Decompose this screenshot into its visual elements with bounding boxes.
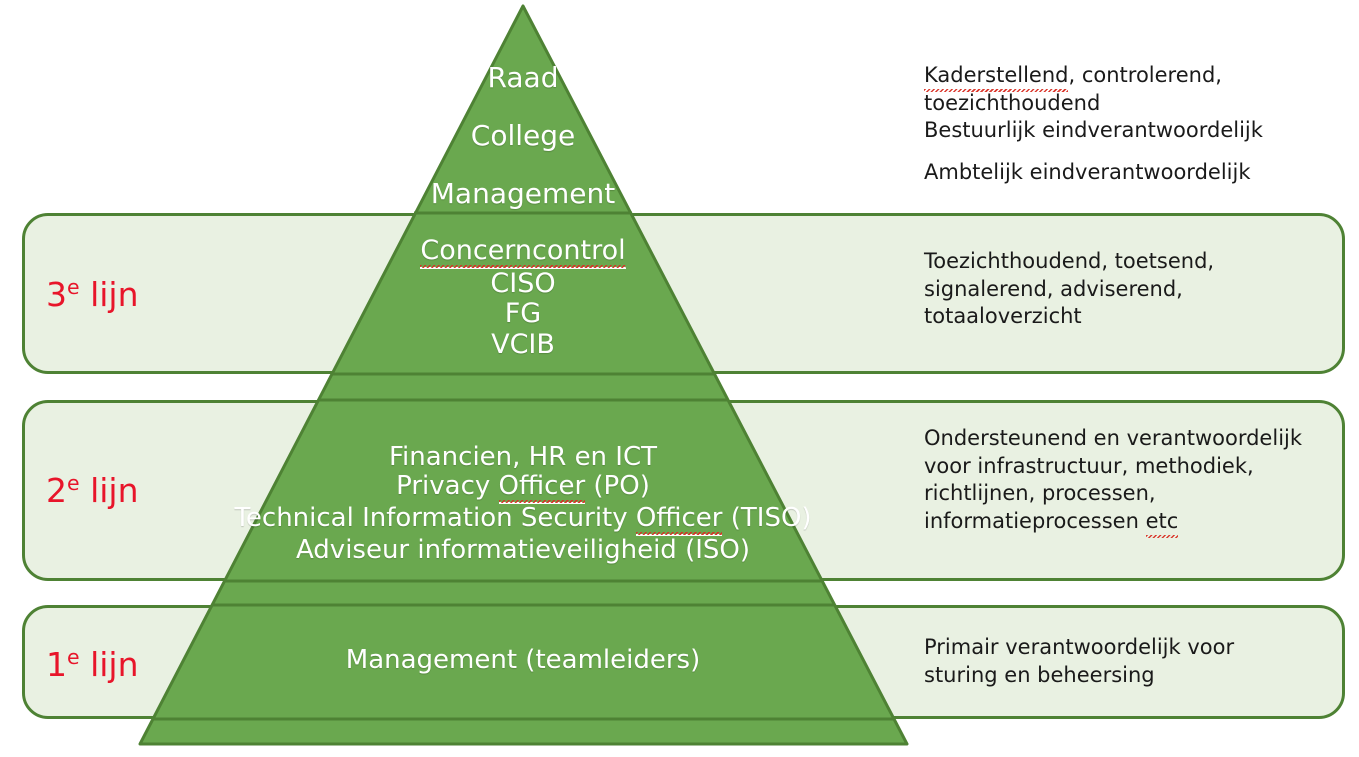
pyramid-label-tiso-suffix: (TISO) xyxy=(722,503,811,533)
pyramid-label-privacy-officer-word: Officer xyxy=(499,472,586,504)
description-second-line2: voor infrastructuur, methodiek, xyxy=(924,453,1302,481)
description-first-line: Primair verantwoordelijk voor sturing en… xyxy=(924,634,1234,689)
pyramid-label-privacy-suffix: (PO) xyxy=(585,471,650,501)
description-first-line1: Primair verantwoordelijk voor xyxy=(924,634,1234,662)
description-third-line2: signalerend, adviserend, xyxy=(924,276,1214,304)
pyramid-tier-college: College xyxy=(0,120,1046,151)
description-second-line4-prefix: informatieprocessen xyxy=(924,509,1146,533)
pyramid-label-privacy-prefix: Privacy xyxy=(396,471,498,501)
description-third-line1: Toezichthoudend, toetsend, xyxy=(924,248,1214,276)
description-second-line4: informatieprocessen etc xyxy=(924,508,1302,536)
description-second-line1: Ondersteunend en verantwoordelijk xyxy=(924,425,1302,453)
pyramid-label-concerncontrol: Concerncontrol xyxy=(420,236,625,269)
description-third-line: Toezichthoudend, toetsend, signalerend, … xyxy=(924,248,1214,331)
pyramid-label-financien: Financien, HR en ICT xyxy=(0,443,1046,472)
diagram-canvas: 3e lijn 2e lijn 1e lijn Raad College Man… xyxy=(0,0,1359,757)
pyramid-label-tiso-officer-word: Officer xyxy=(636,504,723,536)
pyramid-row-concerncontrol: Concerncontrol xyxy=(0,236,1046,269)
pyramid-label-tiso-prefix: Technical Information Security xyxy=(234,503,635,533)
pyramid-label-teamleiders: Management (teamleiders) xyxy=(0,646,1046,675)
pyramid-label-management: Management xyxy=(0,178,1046,209)
pyramid-label-raad: Raad xyxy=(0,62,1046,93)
pyramid-label-vcib: VCIB xyxy=(0,330,1046,360)
pyramid-label-college: College xyxy=(0,120,1046,151)
pyramid-label-ciso: CISO xyxy=(0,269,1046,299)
description-top-line1: Kaderstellend, controlerend, xyxy=(924,62,1263,90)
description-top-spacer xyxy=(924,145,1263,159)
description-top-line5: Ambtelijk eindverantwoordelijk xyxy=(924,159,1263,187)
description-top: Kaderstellend, controlerend, toezichthou… xyxy=(924,62,1263,187)
pyramid-row-tiso: Technical Information Security Officer (… xyxy=(0,504,1046,536)
description-third-line3: totaaloverzicht xyxy=(924,303,1214,331)
pyramid-row-privacy-officer: Privacy Officer (PO) xyxy=(0,472,1046,504)
description-second-line: Ondersteunend en verantwoordelijk voor i… xyxy=(924,425,1302,536)
description-top-line2: toezichthoudend xyxy=(924,90,1263,118)
pyramid-label-adviseur: Adviseur informatieveiligheid (ISO) xyxy=(0,536,1046,565)
pyramid-label-fg: FG xyxy=(0,299,1046,329)
description-second-etc: etc xyxy=(1146,508,1179,536)
description-top-line3: Bestuurlijk eindverantwoordelijk xyxy=(924,117,1263,145)
pyramid-tier-third-line: Concerncontrol CISO FG VCIB xyxy=(0,236,1046,360)
pyramid-tier-management: Management xyxy=(0,178,1046,209)
description-top-line1-rest: , controlerend, xyxy=(1068,63,1221,87)
pyramid-tier-raad: Raad xyxy=(0,62,1046,93)
description-first-line2: sturing en beheersing xyxy=(924,662,1234,690)
description-top-kaderstellend: Kaderstellend xyxy=(924,62,1068,90)
pyramid-tier-second-line: Financien, HR en ICT Privacy Officer (PO… xyxy=(0,443,1046,565)
pyramid-tier-first-line: Management (teamleiders) xyxy=(0,646,1046,675)
description-second-line3: richtlijnen, processen, xyxy=(924,480,1302,508)
